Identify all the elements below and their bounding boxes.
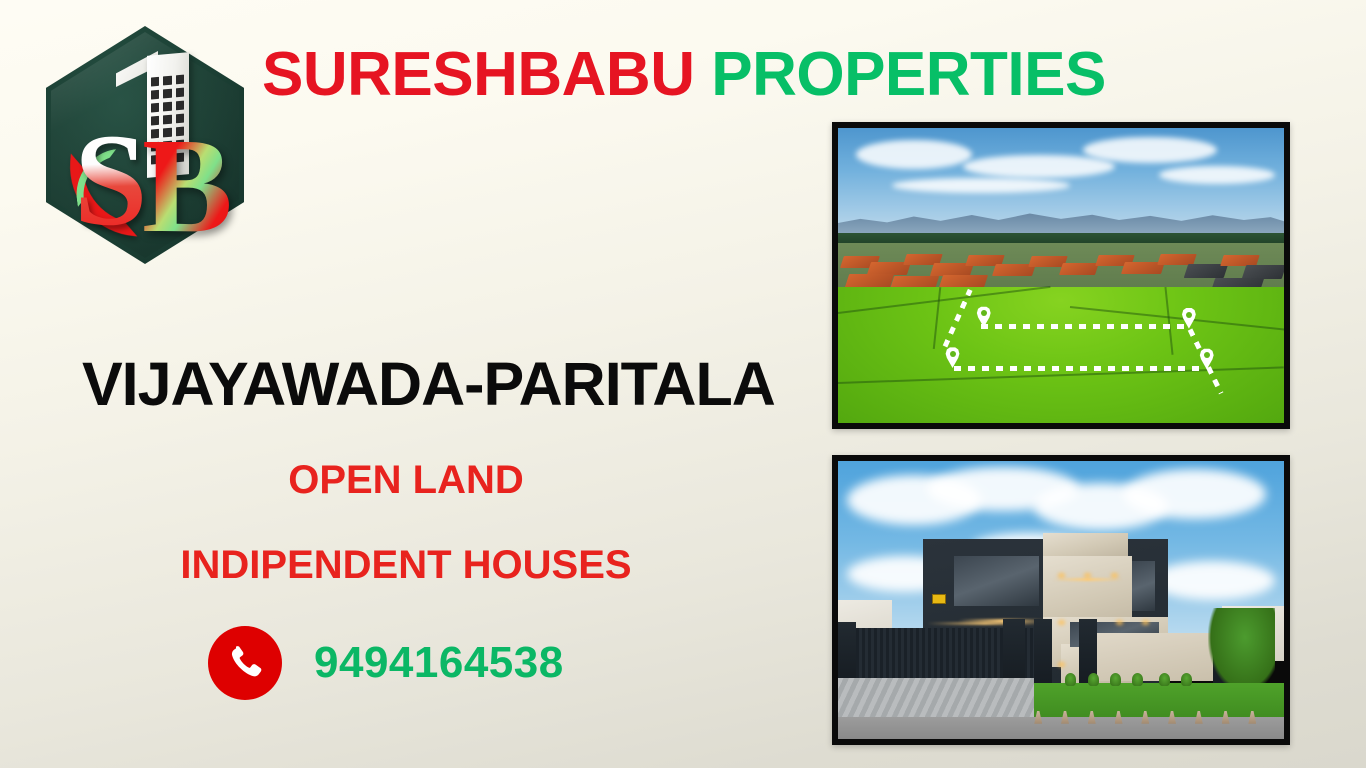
gate-pillar <box>1034 619 1052 686</box>
phone-handset-icon[interactable] <box>208 626 282 700</box>
house-roof <box>845 274 894 288</box>
field-divider <box>838 286 1051 314</box>
wall-light <box>1057 661 1066 668</box>
phone-number[interactable]: 9494164538 <box>314 638 564 688</box>
logo-letter-b: B <box>142 118 233 254</box>
open-land-field <box>838 287 1284 423</box>
field-divider <box>1164 287 1173 355</box>
modern-house-scene <box>838 461 1284 739</box>
tree-icon <box>1208 608 1275 691</box>
shrub <box>1159 673 1170 686</box>
logo-letter-s: S <box>74 114 145 246</box>
location-headline: VIJAYAWADA-PARITALA <box>82 349 775 419</box>
gate-pillar <box>838 622 856 683</box>
house-roof <box>1220 255 1259 266</box>
upper-glass-window <box>954 556 1039 606</box>
house-roof <box>1059 263 1098 275</box>
cloud-icon <box>1150 561 1275 600</box>
brand-name-secondary: PROPERTIES <box>711 40 1106 109</box>
shrub <box>1065 673 1076 686</box>
plot-boundary-bottom <box>954 366 1204 371</box>
portico-string-light <box>927 622 1043 625</box>
offerings-block: OPEN LAND INDIPENDENT HOUSES <box>0 458 812 588</box>
contact-row[interactable]: 9494164538 <box>208 626 564 700</box>
house-roof <box>939 275 988 288</box>
offering-independent-houses: INDIPENDENT HOUSES <box>0 543 812 588</box>
paved-driveway <box>838 678 1034 722</box>
tall-glass-window <box>1132 561 1154 611</box>
gate-pillar <box>1003 619 1025 686</box>
shrub <box>1132 673 1143 686</box>
shrub <box>1110 673 1121 686</box>
house-roof <box>1157 254 1196 265</box>
house-nameplate <box>932 594 946 604</box>
offering-open-land: OPEN LAND <box>0 458 812 503</box>
house-roof <box>1184 264 1229 278</box>
photo-modern-independent-house[interactable] <box>832 455 1290 745</box>
cloud-icon <box>1159 166 1275 184</box>
plot-boundary-top <box>981 324 1186 329</box>
field-divider <box>933 287 942 349</box>
wall-light <box>1057 572 1066 579</box>
brand-logo[interactable]: S B <box>46 26 244 264</box>
brand-name-primary: SURESHBABU <box>262 40 694 109</box>
shrub <box>1181 673 1192 686</box>
aerial-land-scene <box>838 128 1284 423</box>
map-pin-icon <box>945 347 960 368</box>
poster-canvas: S B SURESHBABU PROPERTIES VIJAYAWADA-PAR… <box>0 0 1366 768</box>
cloud-icon <box>856 140 972 170</box>
street-road <box>838 717 1284 739</box>
cloud-icon <box>892 178 1070 193</box>
photo-aerial-land-plot[interactable] <box>832 122 1290 429</box>
cloud-icon <box>963 155 1115 179</box>
roof-parapet <box>1043 533 1128 558</box>
brand-title: SURESHBABU PROPERTIES <box>262 42 1106 107</box>
shrub <box>1088 673 1099 686</box>
